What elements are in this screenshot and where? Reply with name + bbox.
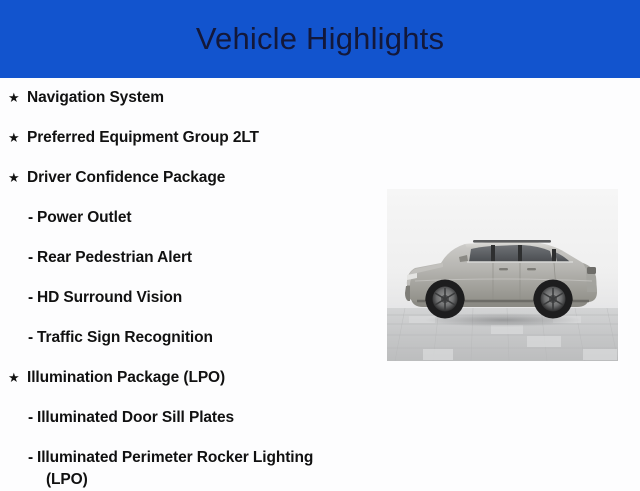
star-bullet-icon: ★	[8, 87, 27, 109]
header-band: Vehicle Highlights	[0, 0, 640, 78]
feature-sub-item: -Power Outlet	[0, 207, 380, 247]
feature-label: Driver Confidence Package	[27, 167, 225, 189]
feature-sub-item: -Illuminated Perimeter Rocker Lighting (…	[0, 447, 380, 491]
feature-item: ★Driver Confidence Package	[0, 167, 380, 207]
feature-label: Power Outlet	[37, 207, 131, 229]
feature-sub-item: -Traffic Sign Recognition	[0, 327, 380, 367]
dash-bullet-icon: -	[28, 407, 37, 429]
feature-label: Rear Pedestrian Alert	[37, 247, 192, 269]
feature-label: Illuminated Door Sill Plates	[37, 407, 234, 429]
star-bullet-icon: ★	[8, 167, 27, 189]
dash-bullet-icon: -	[28, 287, 37, 309]
feature-item: ★Preferred Equipment Group 2LT	[0, 127, 380, 167]
vehicle-side-profile-photo	[387, 189, 618, 361]
feature-item: ★Illumination Package (LPO)	[0, 367, 380, 407]
feature-label: Traffic Sign Recognition	[37, 327, 213, 349]
feature-label: Illumination Package (LPO)	[27, 367, 225, 389]
dash-bullet-icon: -	[28, 447, 37, 469]
content-area: ★Navigation System★Preferred Equipment G…	[0, 78, 640, 480]
dash-bullet-icon: -	[28, 207, 37, 229]
feature-item: ★Navigation System	[0, 87, 380, 127]
feature-label: Preferred Equipment Group 2LT	[27, 127, 259, 149]
feature-label: Navigation System	[27, 87, 164, 109]
feature-sub-item: -Rear Pedestrian Alert	[0, 247, 380, 287]
star-bullet-icon: ★	[8, 127, 27, 149]
feature-label: HD Surround Vision	[37, 287, 182, 309]
dash-bullet-icon: -	[28, 327, 37, 349]
feature-sub-item: -Illuminated Door Sill Plates	[0, 407, 380, 447]
feature-label: Illuminated Perimeter Rocker Lighting (L…	[37, 447, 321, 491]
page-title: Vehicle Highlights	[196, 23, 444, 56]
feature-sub-item: -HD Surround Vision	[0, 287, 380, 327]
dash-bullet-icon: -	[28, 247, 37, 269]
star-bullet-icon: ★	[8, 367, 27, 389]
vehicle-highlights-list: ★Navigation System★Preferred Equipment G…	[0, 78, 380, 491]
